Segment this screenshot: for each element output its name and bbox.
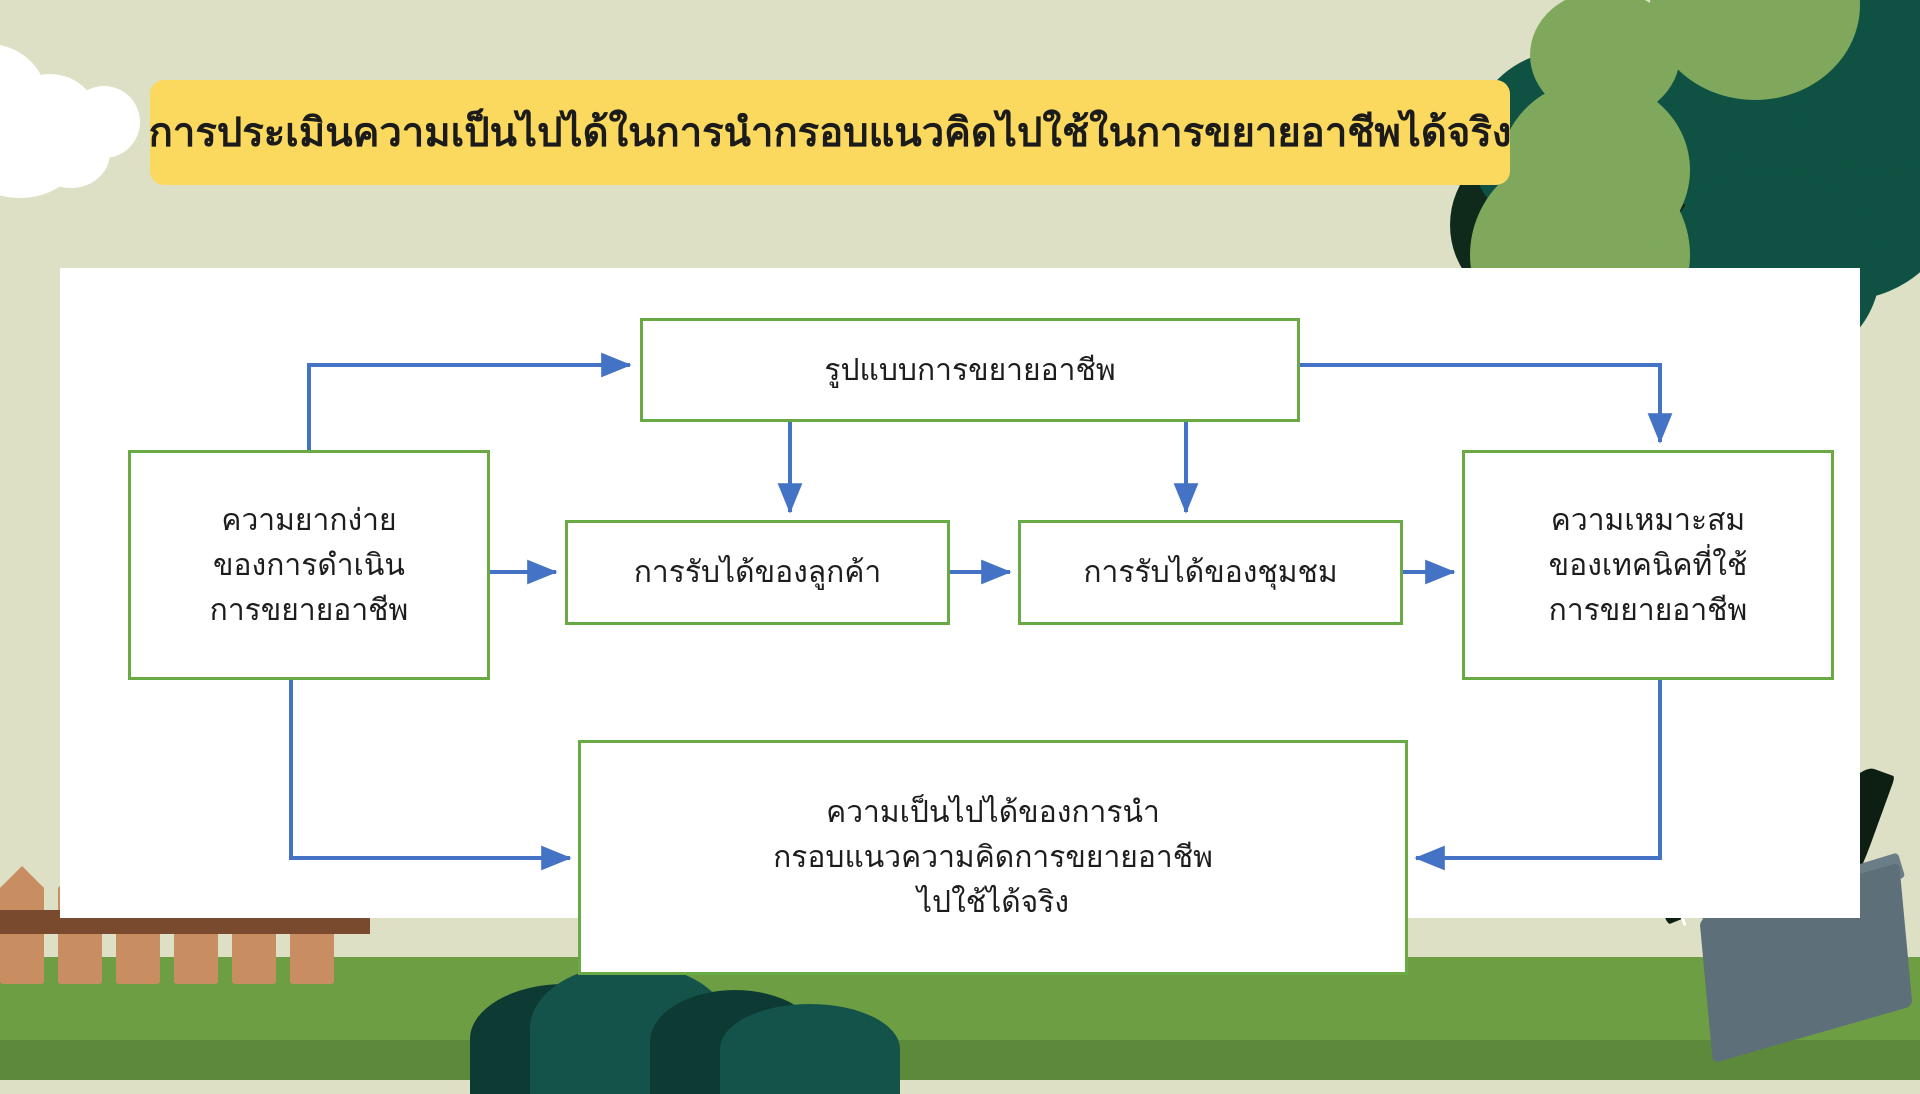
node-feasibility-conclusion[interactable]: ความเป็นไปได้ของการนำ กรอบแนวความคิดการข… [578,740,1408,975]
node-expansion-model[interactable]: รูปแบบการขยายอาชีพ [640,318,1300,422]
node-community-acceptance[interactable]: การรับได้ของชุมชม [1018,520,1403,625]
node-technique-suitability[interactable]: ความเหมาะสม ของเทคนิคที่ใช้ การขยายอาชีพ [1462,450,1834,680]
node-operation-difficulty[interactable]: ความยากง่าย ของการดำเนิน การขยายอาชีพ [128,450,490,680]
slide-title: การประเมินความเป็นไปได้ในการนำกรอบแนวคิด… [149,113,1512,153]
title-banner: การประเมินความเป็นไปได้ในการนำกรอบแนวคิด… [150,80,1510,185]
node-customer-acceptance[interactable]: การรับได้ของลูกค้า [565,520,950,625]
grass-band-shadow [0,1040,1920,1080]
slide-canvas: การประเมินความเป็นไปได้ในการนำกรอบแนวคิด… [0,0,1920,1080]
